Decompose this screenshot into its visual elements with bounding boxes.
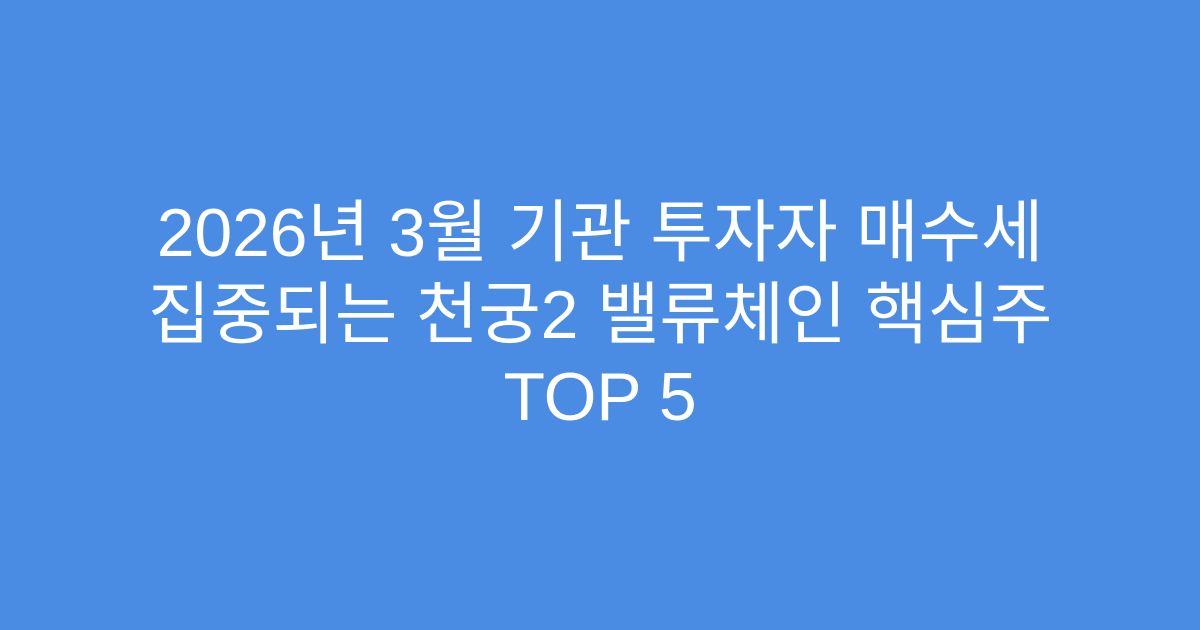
og-card: 2026년 3월 기관 투자자 매수세 집중되는 천궁2 밸류체인 핵심주 TO… [0,0,1200,630]
page-title: 2026년 3월 기관 투자자 매수세 집중되는 천궁2 밸류체인 핵심주 TO… [120,192,1080,438]
title-block: 2026년 3월 기관 투자자 매수세 집중되는 천궁2 밸류체인 핵심주 TO… [110,192,1090,438]
